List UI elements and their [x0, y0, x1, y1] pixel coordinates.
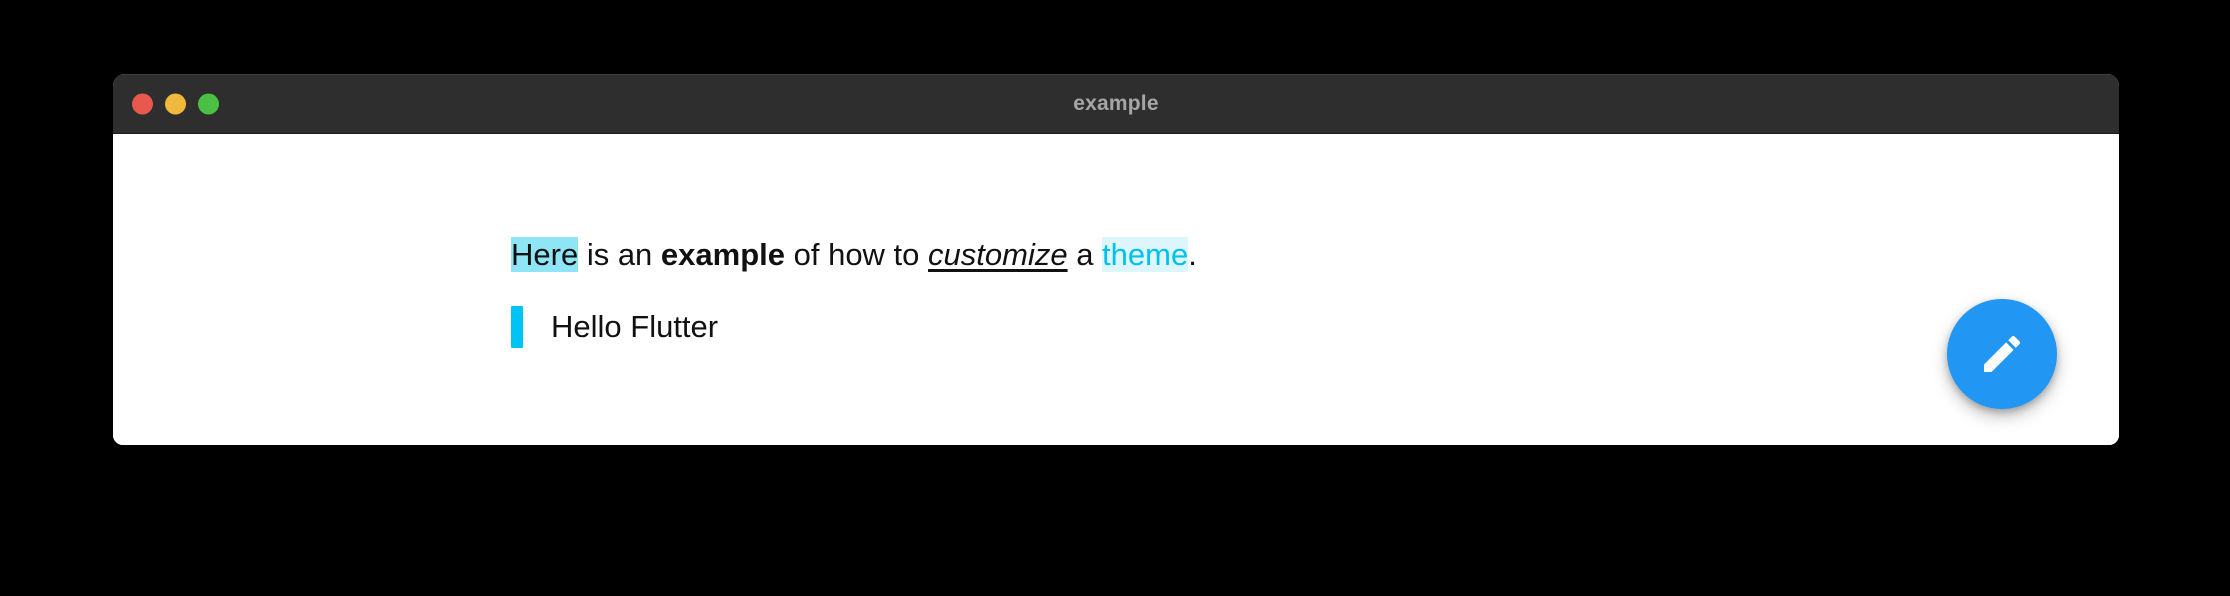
- text-span-plain-2: of how to: [785, 237, 928, 272]
- blockquote-row: Hello Flutter: [511, 306, 718, 348]
- close-window-button[interactable]: [132, 93, 153, 114]
- window-title: example: [113, 92, 2119, 116]
- rich-text-paragraph: Here is an example of how to customize a…: [511, 236, 1197, 275]
- text-span-theme-link[interactable]: theme: [1102, 237, 1188, 272]
- text-span-highlighted: Here: [511, 237, 578, 272]
- blockquote-accent-bar: [511, 306, 523, 348]
- blockquote-text: Hello Flutter: [551, 309, 718, 345]
- text-span-italic-underline: customize: [928, 237, 1068, 272]
- traffic-light-controls: [132, 93, 219, 114]
- text-span-period: .: [1188, 237, 1197, 272]
- text-span-plain-1: is an: [578, 237, 661, 272]
- application-window: example Here is an example of how to cus…: [113, 74, 2119, 445]
- text-span-bold: example: [661, 237, 785, 272]
- text-span-plain-3: a: [1068, 237, 1102, 272]
- window-title-bar[interactable]: example: [113, 74, 2119, 134]
- minimize-window-button[interactable]: [165, 93, 186, 114]
- window-content-area: Here is an example of how to customize a…: [113, 134, 2119, 445]
- desktop-background: example Here is an example of how to cus…: [0, 0, 2230, 596]
- pencil-icon: [1978, 330, 2026, 378]
- floating-action-button[interactable]: [1947, 299, 2057, 409]
- zoom-window-button[interactable]: [198, 93, 219, 114]
